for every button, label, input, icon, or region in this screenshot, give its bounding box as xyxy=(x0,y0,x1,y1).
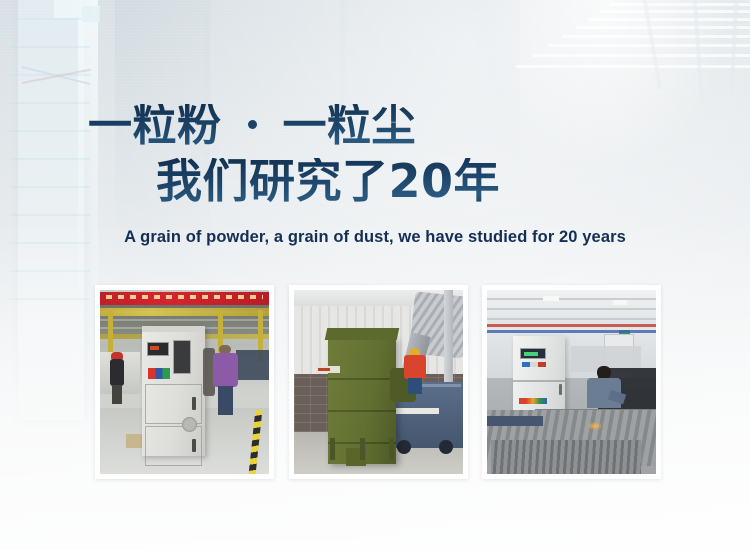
background-diagonal-brace-2 xyxy=(22,69,91,84)
background-top-block xyxy=(54,0,92,18)
headline-subtitle: A grain of powder, a grain of dust, we h… xyxy=(0,228,750,247)
photo-card-green-collector[interactable] xyxy=(289,285,468,479)
headline-phrase-1: 一粒粉 xyxy=(88,100,222,151)
headline-dot-separator xyxy=(248,120,257,129)
headline-phrase-2: 一粒尘 xyxy=(283,100,417,151)
photo-card-white-cabinet[interactable] xyxy=(482,285,661,479)
photo-grey-cabinet-dust-collector xyxy=(100,290,269,474)
background-diagonal-brace xyxy=(22,66,90,84)
banner-stage: 一粒粉一粒尘 我们研究了20年 A grain of powder, a gra… xyxy=(0,0,750,550)
headline-block: 一粒粉一粒尘 我们研究了20年 xyxy=(0,104,750,204)
photo-white-cabinet-workshop xyxy=(487,290,656,474)
photo-card-grey-cabinet[interactable] xyxy=(95,285,274,479)
background-left-pillar xyxy=(18,0,84,420)
photo-green-dust-collector xyxy=(294,290,463,474)
headline-line-1: 一粒粉一粒尘 xyxy=(88,104,750,148)
background-top-block-2 xyxy=(82,6,100,22)
photo-gallery xyxy=(95,285,661,479)
headline-line-2: 我们研究了20年 xyxy=(88,158,750,204)
